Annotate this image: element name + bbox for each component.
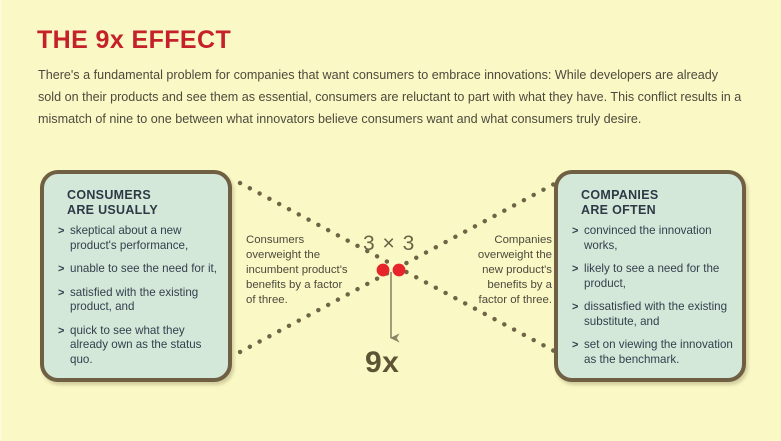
- companies-bullet-list: > convinced the innovation works, > like…: [572, 224, 734, 376]
- consumers-panel: CONSUMERS ARE USUALLY > skeptical about …: [40, 170, 232, 382]
- bullet-caret-icon: >: [58, 286, 64, 301]
- right-annotation: Companies overweight the new product's b…: [466, 233, 552, 308]
- node-dot-left: [377, 264, 390, 277]
- left-annotation: Consumers overweight the incumbent produ…: [246, 233, 350, 308]
- list-item-text: skeptical about a new product's performa…: [70, 224, 188, 252]
- list-item-text: convinced the innovation works,: [584, 224, 712, 252]
- list-item-text: unable to see the need for it,: [70, 262, 217, 275]
- list-item: > unable to see the need for it,: [58, 262, 220, 277]
- list-item: > dissatisfied with the existing substit…: [572, 300, 734, 329]
- bullet-caret-icon: >: [58, 262, 64, 277]
- companies-panel-heading: COMPANIES ARE OFTEN: [581, 188, 658, 218]
- bullet-caret-icon: >: [572, 224, 578, 239]
- bullet-caret-icon: >: [572, 262, 578, 277]
- list-item: > convinced the innovation works,: [572, 224, 734, 253]
- page-edge-highlight: [0, 0, 3, 441]
- page-title: THE 9x EFFECT: [37, 26, 231, 55]
- bullet-caret-icon: >: [572, 300, 578, 315]
- list-item-text: dissatisfied with the existing substitut…: [584, 300, 727, 328]
- list-item: > quick to see what they already own as …: [58, 324, 220, 368]
- bullet-caret-icon: >: [572, 338, 578, 353]
- list-item: > skeptical about a new product's perfor…: [58, 224, 220, 253]
- companies-panel: COMPANIES ARE OFTEN > convinced the inno…: [554, 170, 746, 382]
- consumers-panel-heading: CONSUMERS ARE USUALLY: [67, 188, 158, 218]
- multiplier-label: 3 × 3: [363, 232, 415, 256]
- list-item-text: satisfied with the existing product, and: [70, 286, 198, 314]
- result-label: 9x: [365, 346, 399, 380]
- list-item: > set on viewing the innovation as the b…: [572, 338, 734, 367]
- infographic-page: THE 9x EFFECT There's a fundamental prob…: [0, 0, 781, 441]
- list-item: > satisfied with the existing product, a…: [58, 286, 220, 315]
- bullet-caret-icon: >: [58, 224, 64, 239]
- bullet-caret-icon: >: [58, 324, 64, 339]
- node-dot-right: [393, 264, 406, 277]
- list-item-text: quick to see what they already own as th…: [70, 324, 201, 366]
- list-item-text: set on viewing the innovation as the ben…: [584, 338, 733, 366]
- intro-paragraph: There's a fundamental problem for compan…: [38, 64, 744, 130]
- consumers-bullet-list: > skeptical about a new product's perfor…: [58, 224, 220, 376]
- list-item: > likely to see a need for the product,: [572, 262, 734, 291]
- list-item-text: likely to see a need for the product,: [584, 262, 719, 290]
